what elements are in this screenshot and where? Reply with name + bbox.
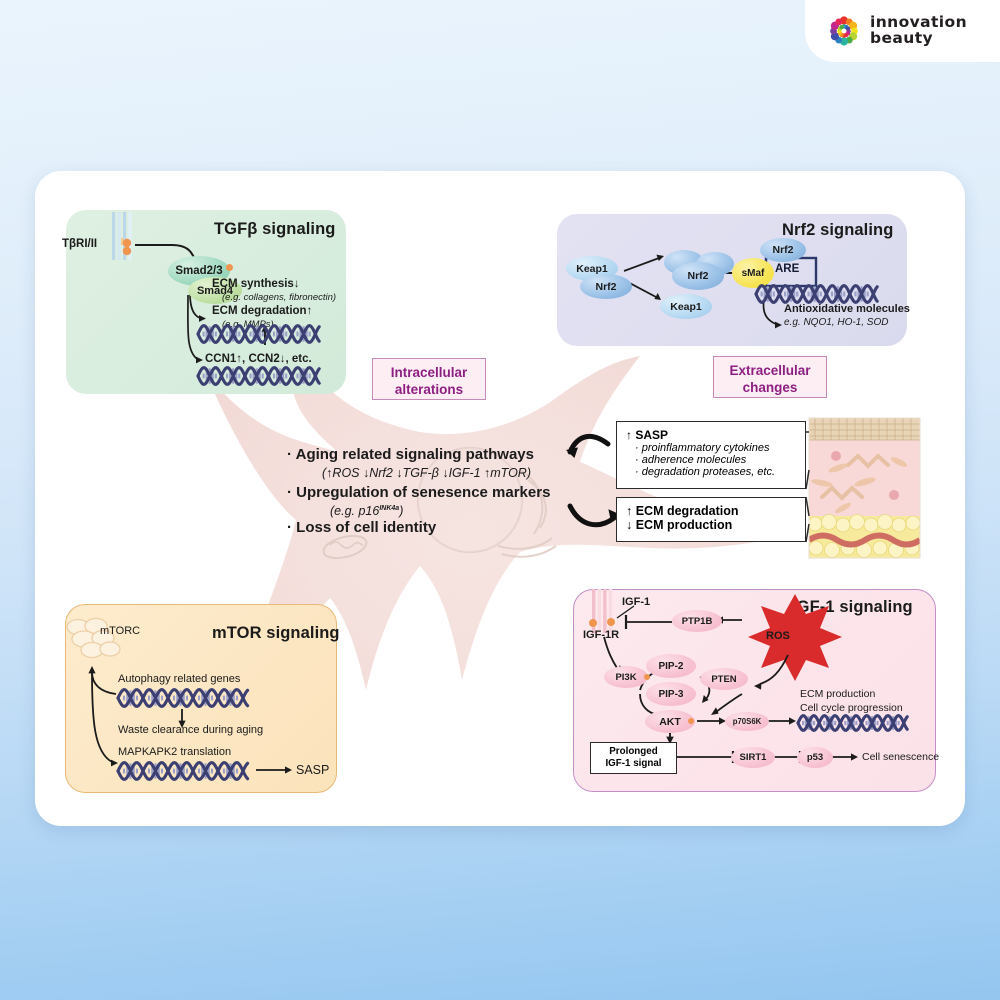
- skin-cross-section: [0, 0, 1000, 1000]
- diagram-stage: innovation beauty: [0, 0, 1000, 1000]
